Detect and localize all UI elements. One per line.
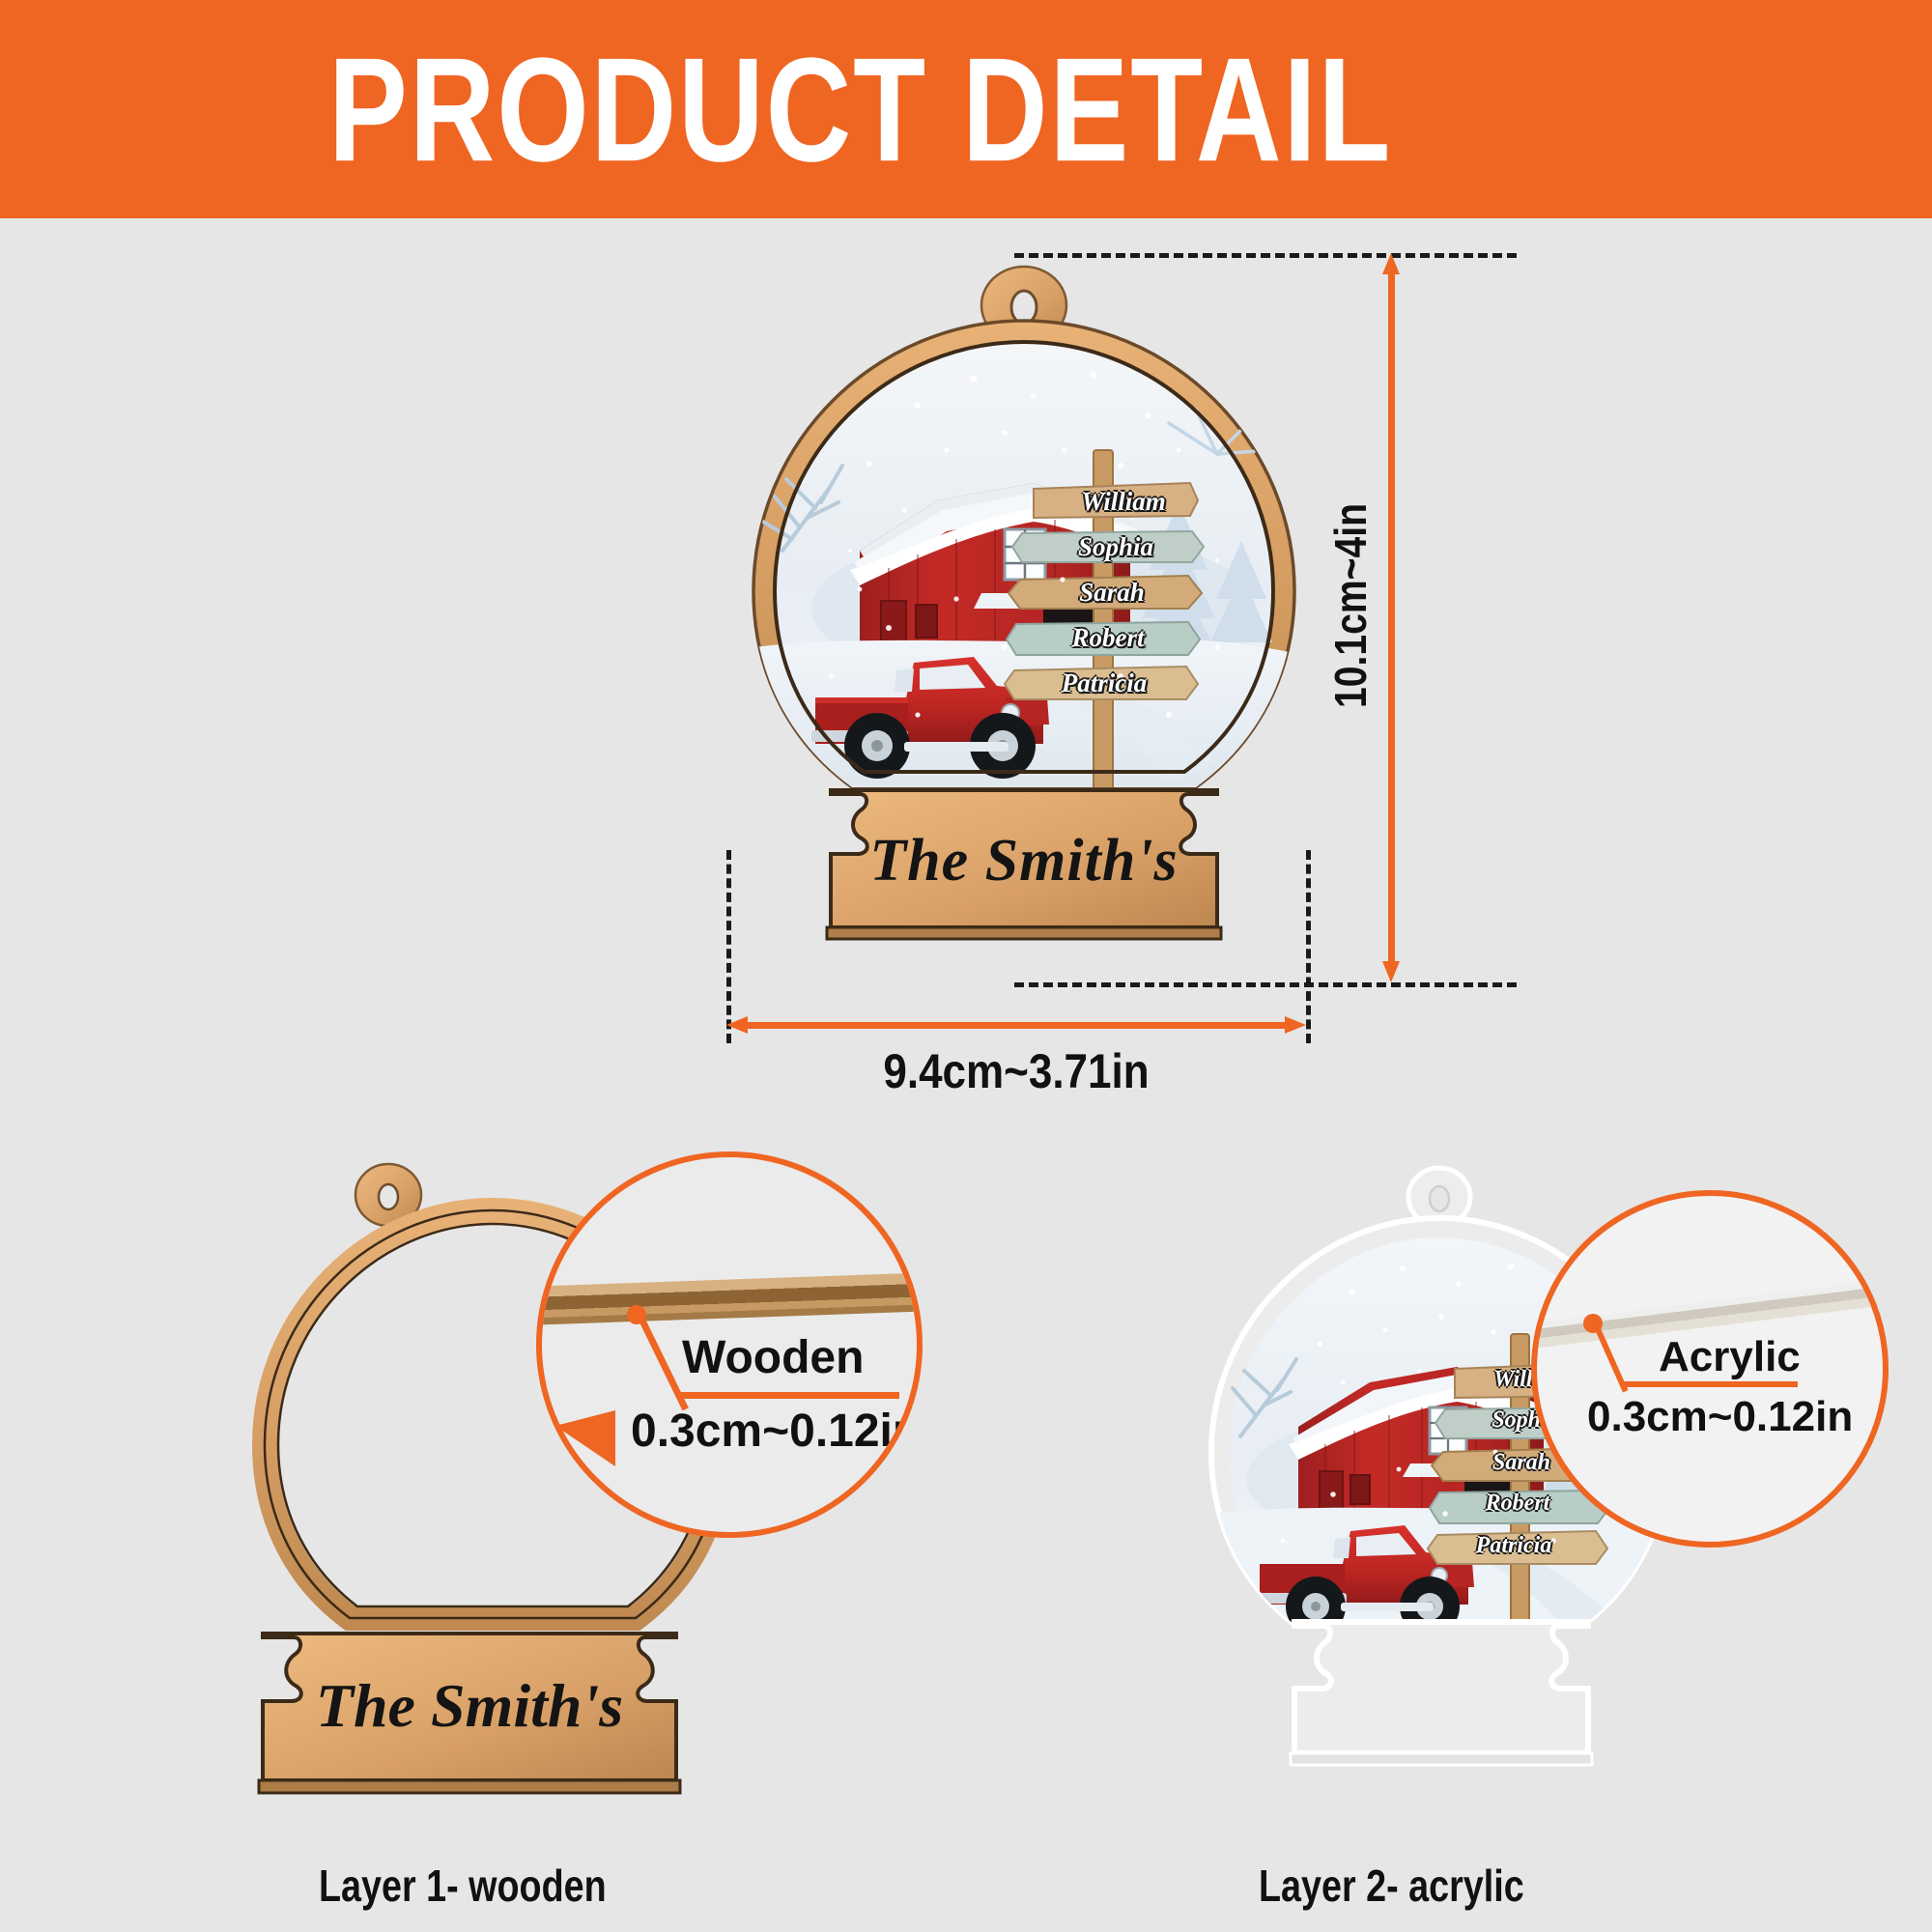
sign-label-4: Patricia — [1032, 668, 1177, 698]
leader-line-horizontal — [1622, 1381, 1798, 1387]
callout-pointer-wooden — [555, 1410, 615, 1466]
material-label: Acrylic — [1659, 1333, 1801, 1381]
page-title: PRODUCT DETAIL — [328, 24, 1392, 193]
width-dimension-label: 9.4cm~3.71in — [761, 1043, 1271, 1099]
page-header: PRODUCT DETAIL — [0, 0, 1932, 218]
family-name-text: The Smith's — [831, 827, 1217, 895]
wooden-thickness-callout: Wooden 0.3cm~0.12in — [536, 1151, 923, 1538]
sign-label-4: Patricia — [1451, 1533, 1577, 1559]
acrylic-thickness-callout: Acrylic 0.3cm~0.12in — [1531, 1190, 1889, 1548]
height-dimension-arrow — [1383, 253, 1399, 982]
sign-label-0: William — [1051, 487, 1196, 517]
width-dimension-arrow — [726, 1017, 1306, 1033]
thickness-label: 0.3cm~0.12in — [1587, 1393, 1853, 1441]
main-ornament: William Sophia Sarah Robert Patricia The… — [715, 261, 1333, 976]
sign-label-1: Sophia — [1043, 532, 1188, 562]
family-name-text: The Smith's — [263, 1670, 676, 1742]
leader-line-horizontal — [677, 1392, 899, 1399]
sign-label-2: Sarah — [1039, 578, 1184, 608]
height-dimension-label: 10.1cm~4in — [1324, 474, 1377, 737]
dimension-guide-left — [726, 850, 731, 1043]
sign-label-3: Robert — [1455, 1491, 1580, 1517]
dimension-guide-top — [1014, 253, 1517, 258]
dimension-guide-right — [1306, 850, 1311, 1043]
material-label: Wooden — [682, 1331, 864, 1384]
wood-edge-band — [536, 1271, 923, 1325]
layer1-caption: Layer 1- wooden — [319, 1860, 607, 1912]
layer2-caption: Layer 2- acrylic — [1259, 1860, 1524, 1912]
acrylic-base-banner — [1291, 1622, 1592, 1765]
dimension-guide-bottom — [1014, 982, 1517, 987]
thickness-label: 0.3cm~0.12in — [631, 1405, 921, 1458]
sign-label-3: Robert — [1036, 623, 1180, 653]
